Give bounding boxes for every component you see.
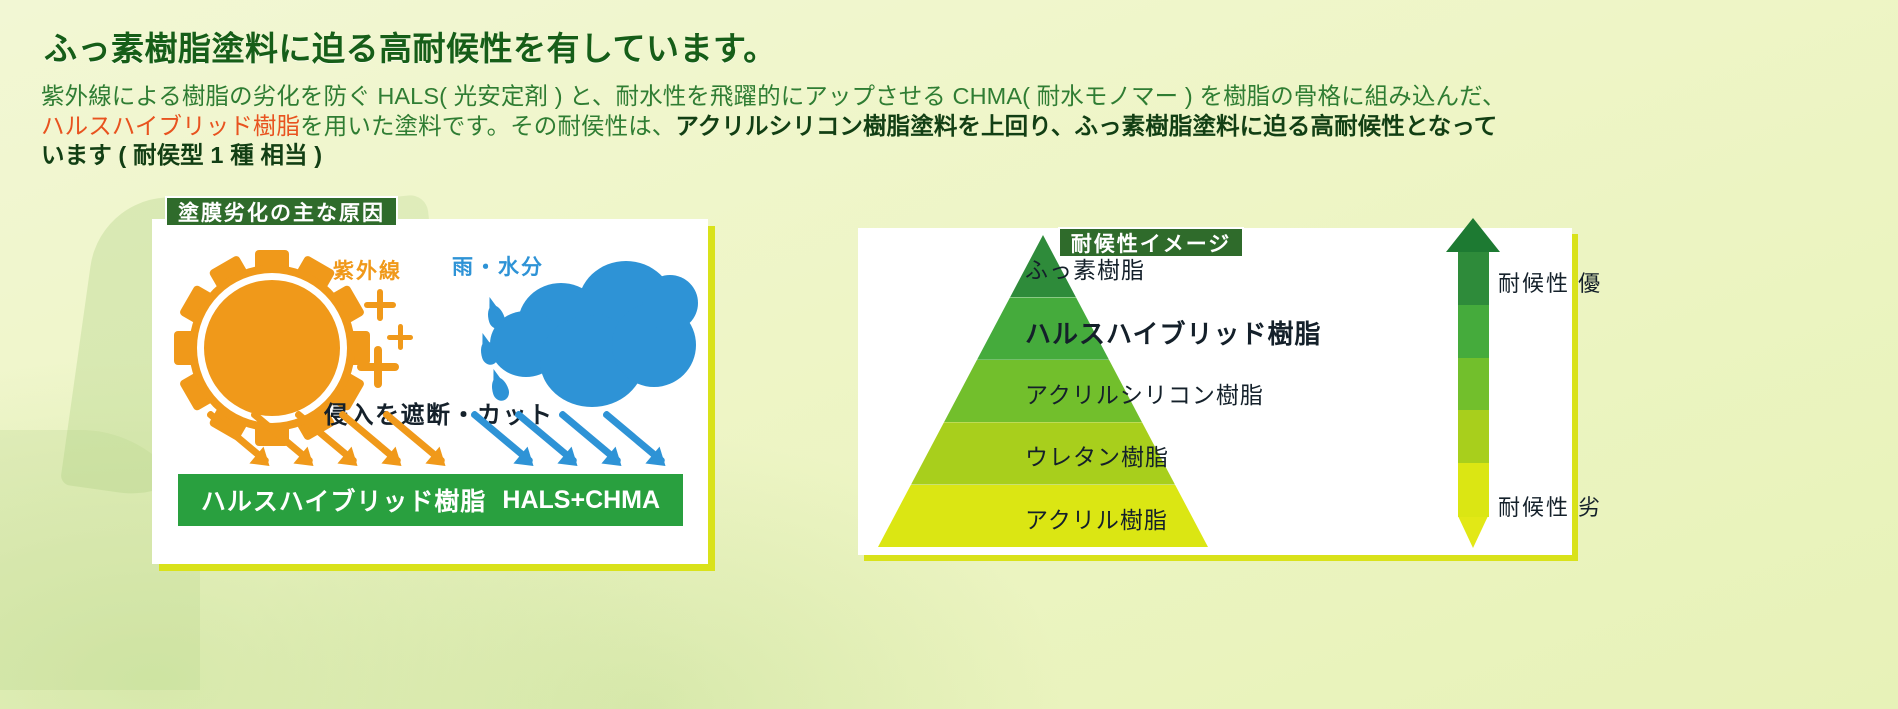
arrow-segment	[1458, 410, 1489, 464]
product-bar-label-en: HALS+CHMA	[502, 486, 660, 515]
right-panel: 耐候性 優 耐候性 劣 ふっ素樹脂ハルスハイブリッド樹脂アクリルシリコン樹脂ウレ…	[858, 228, 1572, 555]
pyramid-tier-label: ウレタン樹脂	[1025, 438, 1169, 472]
body-highlight-term: ハルスハイブリッド樹脂	[41, 113, 300, 139]
body-line-1: 紫外線による樹脂の劣化を防ぐ HALS( 光安定剤 ) と、耐水性を飛躍的にアッ…	[41, 82, 1881, 112]
arrow-segment	[1458, 252, 1489, 306]
right-panel-caption: 耐候性イメージ	[1058, 227, 1244, 258]
arrow-head-up-icon	[1446, 218, 1500, 252]
durability-arrow	[1446, 218, 1500, 548]
body-copy: 紫外線による樹脂の劣化を防ぐ HALS( 光安定剤 ) と、耐水性を飛躍的にアッ…	[41, 82, 1881, 171]
arrow-segment	[1458, 358, 1489, 412]
left-panel-caption: 塗膜劣化の主な原因	[165, 196, 398, 227]
body-line-2-text: を用いた塗料です。その耐侯性は、	[300, 113, 675, 139]
body-line-1-text: 紫外線による樹脂の劣化を防ぐ HALS( 光安定剤 ) と、耐水性を飛躍的にアッ…	[41, 83, 1506, 109]
body-line-3-bold: います ( 耐侯型 1 種 相当 )	[41, 142, 322, 168]
arrow-head-down-icon	[1458, 516, 1488, 548]
body-line-2: ハルスハイブリッド樹脂を用いた塗料です。その耐侯性は、アクリルシリコン樹脂塗料を…	[41, 112, 1881, 142]
uv-label: 紫外線	[333, 255, 402, 285]
pyramid-tier-label: ハルスハイブリッド樹脂	[1025, 314, 1321, 351]
arrow-segment	[1458, 305, 1489, 359]
body-line-3: います ( 耐侯型 1 種 相当 )	[41, 141, 1881, 171]
arrow-bottom-label: 耐候性 劣	[1498, 490, 1602, 522]
pyramid-tier-label: アクリル樹脂	[1025, 501, 1168, 535]
arrow-top-label: 耐候性 優	[1498, 266, 1602, 298]
rain-label: 雨・水分	[452, 251, 544, 281]
page-title: ふっ素樹脂塗料に迫る高耐候性を有しています。	[44, 22, 777, 70]
product-bar-label-jp: ハルスハイブリッド樹脂	[201, 482, 487, 518]
arrow-segment	[1458, 463, 1489, 517]
left-panel: 紫外線 雨・水分 侵入を遮断・カット ハルスハイブリッド樹脂 HALS+CHMA	[152, 219, 708, 564]
product-bar: ハルスハイブリッド樹脂 HALS+CHMA	[178, 474, 683, 526]
pyramid-tier-label: アクリルシリコン樹脂	[1025, 376, 1264, 410]
cloud-icon	[482, 259, 697, 409]
body-line-2-bold: アクリルシリコン樹脂塗料を上回り、ふっ素樹脂塗料に迫る高耐候性となって	[675, 113, 1497, 139]
